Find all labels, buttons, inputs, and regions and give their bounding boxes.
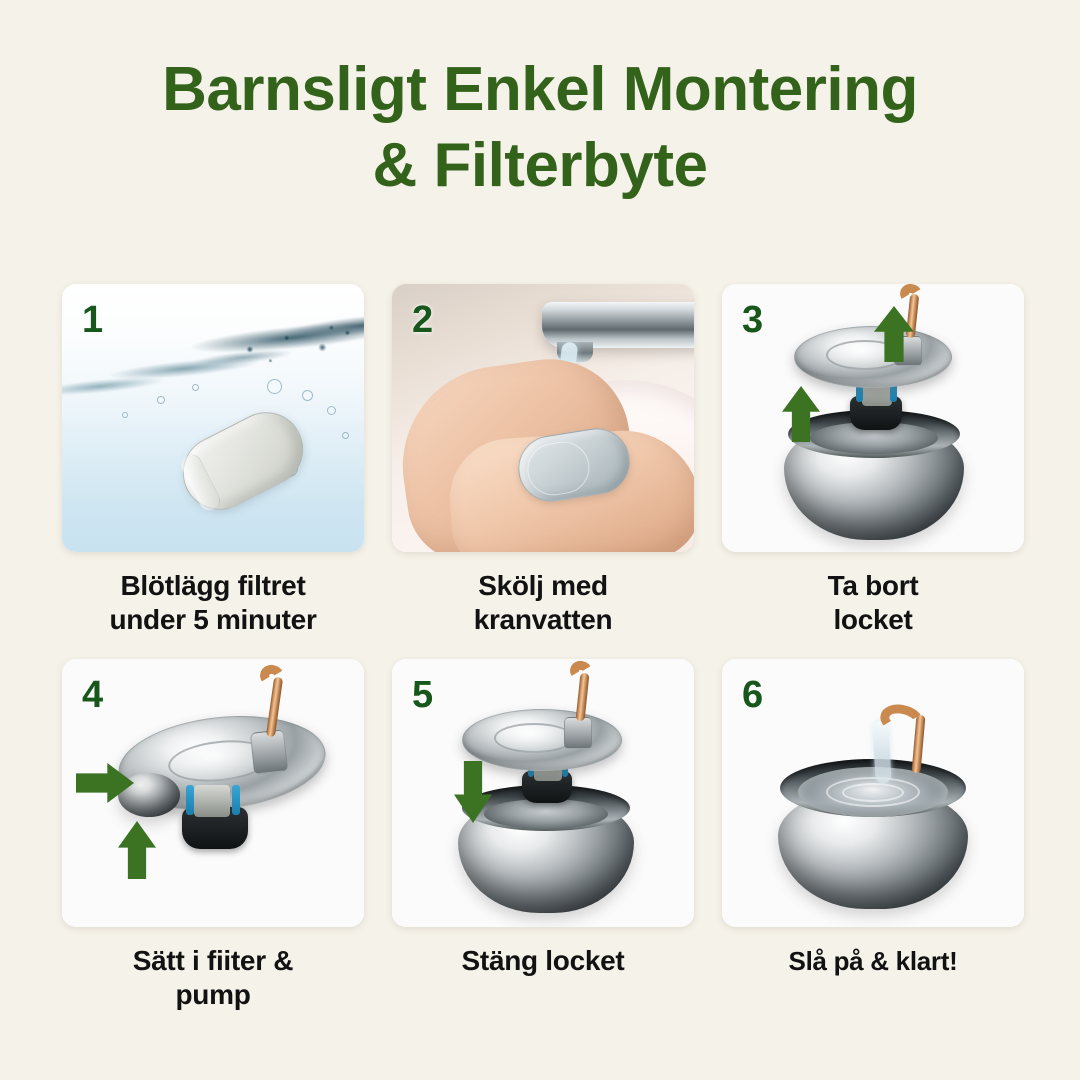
step-card-6: 6 Slå på & klart! <box>722 659 1024 1034</box>
step-caption-3: Ta bort locket <box>713 569 1033 637</box>
step-number-5: 5 <box>412 673 433 717</box>
rinsing-filter-illustration <box>392 284 694 552</box>
step-number-2: 2 <box>412 298 433 342</box>
page-title-line-2: & Filterbyte <box>0 128 1080 204</box>
step-caption-6-line-1: Slå på & klart! <box>713 944 1033 978</box>
step-caption-1-line-1: Blötlägg filtret <box>53 569 373 603</box>
step-caption-3-line-2: locket <box>713 603 1033 637</box>
step-caption-5-line-1: Stäng locket <box>383 944 703 978</box>
step-caption-2: Skölj med kranvatten <box>383 569 703 637</box>
step-card-4: 4 Sätt i fiiter & pump <box>62 659 364 1034</box>
step-number-3: 3 <box>742 298 763 342</box>
filter-soaking-illustration <box>62 284 364 552</box>
step-caption-4-line-1: Sätt i fiiter & <box>53 944 373 978</box>
remove-lid-illustration <box>722 284 1024 552</box>
step-caption-3-line-1: Ta bort <box>713 569 1033 603</box>
step-card-3: 3 Ta bort locket <box>722 284 1024 659</box>
close-lid-illustration <box>392 659 694 927</box>
step-caption-6: Slå på & klart! <box>713 944 1033 978</box>
step-card-1: 1 Blötlägg filtret under 5 minuter <box>62 284 364 659</box>
step-image-3: 3 <box>722 284 1024 552</box>
page-title-line-1: Barnsligt Enkel Montering <box>0 52 1080 128</box>
step-image-1: 1 <box>62 284 364 552</box>
step-caption-1: Blötlägg filtret under 5 minuter <box>53 569 373 637</box>
page-title: Barnsligt Enkel Montering & Filterbyte <box>0 52 1080 204</box>
step-card-2: 2 Skölj med kranvatten <box>392 284 694 659</box>
fountain-running-illustration <box>722 659 1024 927</box>
step-card-5: 5 Stäng locket <box>392 659 694 1034</box>
insert-filter-pump-illustration <box>62 659 364 927</box>
step-number-1: 1 <box>82 298 103 342</box>
step-image-6: 6 <box>722 659 1024 927</box>
step-image-2: 2 <box>392 284 694 552</box>
step-caption-2-line-2: kranvatten <box>383 603 703 637</box>
step-caption-4: Sätt i fiiter & pump <box>53 944 373 1012</box>
step-number-6: 6 <box>742 673 763 717</box>
step-caption-1-line-2: under 5 minuter <box>53 603 373 637</box>
step-number-4: 4 <box>82 673 103 717</box>
step-image-5: 5 <box>392 659 694 927</box>
step-caption-5: Stäng locket <box>383 944 703 978</box>
step-caption-4-line-2: pump <box>53 978 373 1012</box>
steps-grid: 1 Blötlägg filtret under 5 minuter 2 <box>62 284 1024 1034</box>
step-caption-2-line-1: Skölj med <box>383 569 703 603</box>
step-image-4: 4 <box>62 659 364 927</box>
